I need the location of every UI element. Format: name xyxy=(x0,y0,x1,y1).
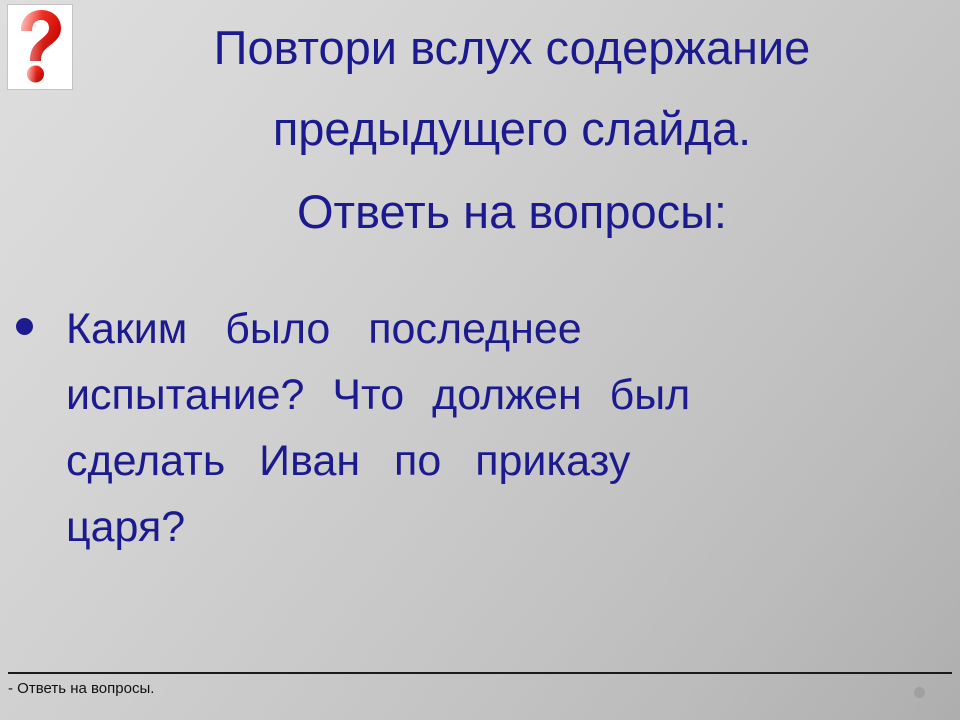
body-line-4: царя? xyxy=(66,494,896,560)
body-line-1: Каким было последнее xyxy=(66,296,896,362)
list-item: Каким было последнее испытание? Что долж… xyxy=(8,296,896,560)
title-line-1: Повтори вслух содержание xyxy=(76,8,948,88)
body-line-3: сделать Иван по приказу xyxy=(66,428,896,494)
presentation-slide: Повтори вслух содержание предыдущего сла… xyxy=(0,0,960,720)
footer-marker-dot-icon xyxy=(914,687,925,698)
bullet-dot-icon xyxy=(16,318,33,335)
footer-divider xyxy=(8,672,952,674)
title-line-2: предыдущего слайда. xyxy=(76,88,948,170)
body-line-2: испытание? Что должен был xyxy=(66,362,896,428)
slide-title: Повтори вслух содержание предыдущего сла… xyxy=(76,8,948,254)
footer-note: - Ответь на вопросы. xyxy=(8,678,708,700)
slide-body: Каким было последнее испытание? Что долж… xyxy=(8,296,896,560)
question-mark-icon xyxy=(8,5,72,89)
bullet-text: Каким было последнее испытание? Что долж… xyxy=(66,296,896,560)
title-line-3: Ответь на вопросы: xyxy=(76,170,948,254)
